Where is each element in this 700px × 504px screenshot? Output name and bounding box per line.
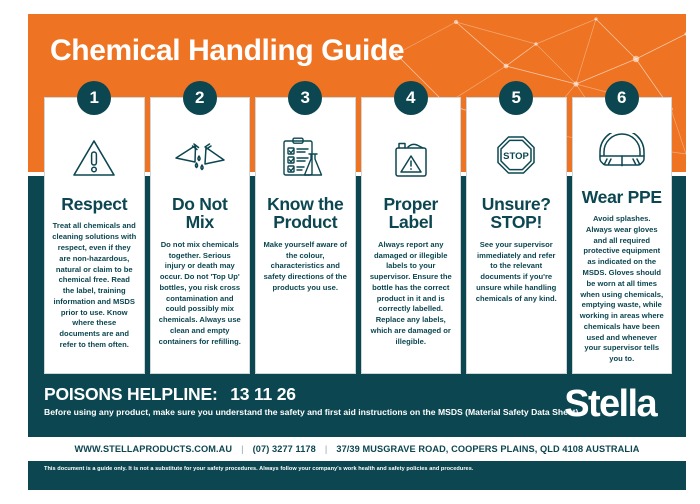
card-body: Avoid splashes. Always wear gloves and a… [580, 214, 665, 365]
card-number-badge: 2 [183, 81, 217, 115]
card-title: Respect [61, 195, 127, 213]
poisons-helpline: POISONS HELPLINE: 13 11 26 [44, 384, 296, 405]
helpline-note: Before using any product, make sure you … [44, 406, 581, 419]
clipboard-checklist-flask-icon [277, 130, 333, 186]
disclaimer-strip: This document is a guide only. It is not… [28, 461, 686, 490]
card-number-badge: 6 [605, 81, 639, 115]
card-body: Do not mix chemicals together. Serious i… [158, 240, 243, 348]
jerrycan-warning-label-icon [389, 130, 433, 186]
poisons-helpline-number[interactable]: 13 11 26 [230, 384, 296, 404]
poisons-helpline-label: POISONS HELPLINE: [44, 384, 218, 404]
page-title: Chemical Handling Guide [50, 34, 404, 68]
card-body: Treat all chemicals and cleaning solutio… [52, 221, 137, 350]
card-body: Always report any damaged or illegible l… [369, 240, 454, 348]
card-respect[interactable]: 1 Respect Treat all chemicals and cleani… [44, 97, 145, 374]
card-body: Make yourself aware of the colour, chara… [263, 240, 348, 294]
contact-separator: | [325, 444, 328, 454]
card-proper-label[interactable]: 4 Proper Label Always report any damaged… [361, 97, 462, 374]
safety-goggles-icon [595, 130, 649, 179]
card-title: Do Not Mix [158, 195, 243, 232]
contact-bar: WWW.STELLAPRODUCTS.COM.AU | (07) 3277 11… [28, 437, 686, 461]
warning-triangle-icon [71, 130, 117, 186]
address: 37/39 MUSGRAVE ROAD, COOPERS PLAINS, QLD… [336, 444, 639, 454]
card-body: See your supervisor immediately and refe… [474, 240, 559, 305]
card-know-the-product[interactable]: 3 Know the [255, 97, 356, 374]
mixing-flasks-icon [172, 130, 228, 186]
cards-row: 1 Respect Treat all chemicals and cleani… [44, 97, 672, 374]
card-title: Wear PPE [582, 188, 662, 206]
website-link[interactable]: WWW.STELLAPRODUCTS.COM.AU [74, 444, 232, 454]
card-number-badge: 3 [288, 81, 322, 115]
card-number-badge: 1 [77, 81, 111, 115]
card-title: Unsure? STOP! [474, 195, 559, 232]
stella-logo: Stella [564, 383, 656, 426]
card-do-not-mix[interactable]: 2 Do Not Mix Do not mix chemicals togeth… [150, 97, 251, 374]
card-title: Know the Product [263, 195, 348, 232]
contact-separator: | [241, 444, 244, 454]
card-number-badge: 4 [394, 81, 428, 115]
card-title: Proper Label [369, 195, 454, 232]
card-number-badge: 5 [499, 81, 533, 115]
card-wear-ppe[interactable]: 6 Wear PPE Avoid splashes. Always wear g… [572, 97, 673, 374]
card-unsure-stop[interactable]: 5 STOP Unsure? STOP! See your supervisor… [466, 97, 567, 374]
svg-text:STOP: STOP [503, 151, 529, 162]
disclaimer-text: This document is a guide only. It is not… [44, 466, 473, 472]
infographic-poster: Chemical Handling Guide 1 Respect Treat … [0, 0, 700, 504]
stop-sign-icon: STOP [491, 130, 541, 186]
phone-number[interactable]: (07) 3277 1178 [253, 444, 316, 454]
